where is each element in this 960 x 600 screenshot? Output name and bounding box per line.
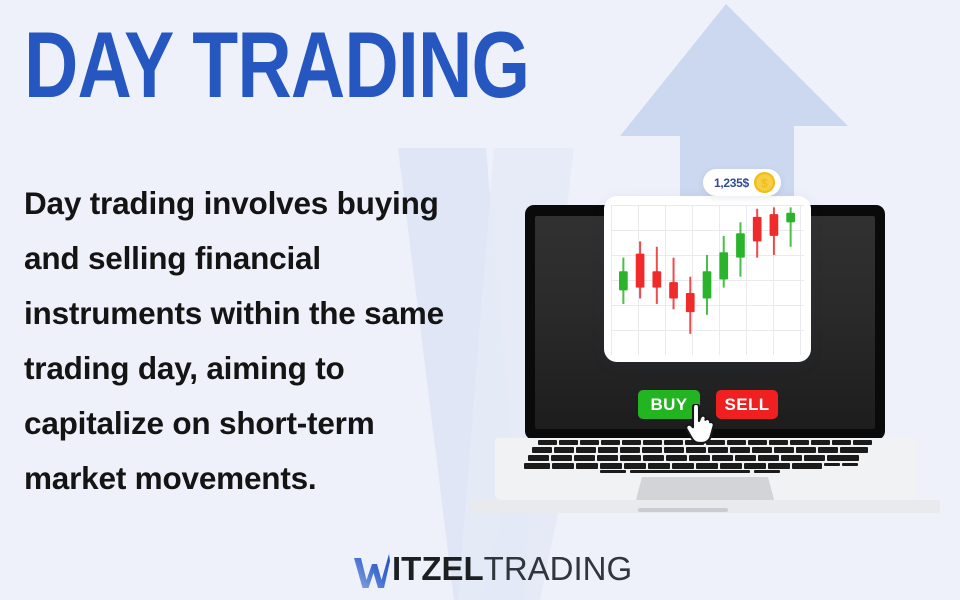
poster-canvas: DAY TRADING Day trading involves buying … (0, 0, 960, 600)
brand-logo: ITZEL TRADING (353, 552, 632, 590)
price-badge-value: 1,235$ (714, 176, 749, 190)
logo-light-text: TRADING (484, 552, 633, 586)
hand-pointer-cursor-icon (684, 404, 718, 446)
candlestick-chart-card (604, 196, 811, 362)
page-title: DAY TRADING (24, 22, 529, 108)
candlestick-series (604, 196, 811, 362)
description-paragraph: Day trading involves buying and selling … (24, 176, 454, 506)
dollar-coin-icon: $ (753, 171, 776, 194)
sell-button[interactable]: SELL (716, 390, 778, 419)
price-badge: 1,235$ $ (703, 169, 781, 196)
witzel-w-mark-icon (353, 554, 391, 588)
svg-text:$: $ (761, 176, 768, 190)
logo-bold-text: ITZEL (392, 552, 484, 586)
laptop-foot-notch (638, 508, 728, 512)
